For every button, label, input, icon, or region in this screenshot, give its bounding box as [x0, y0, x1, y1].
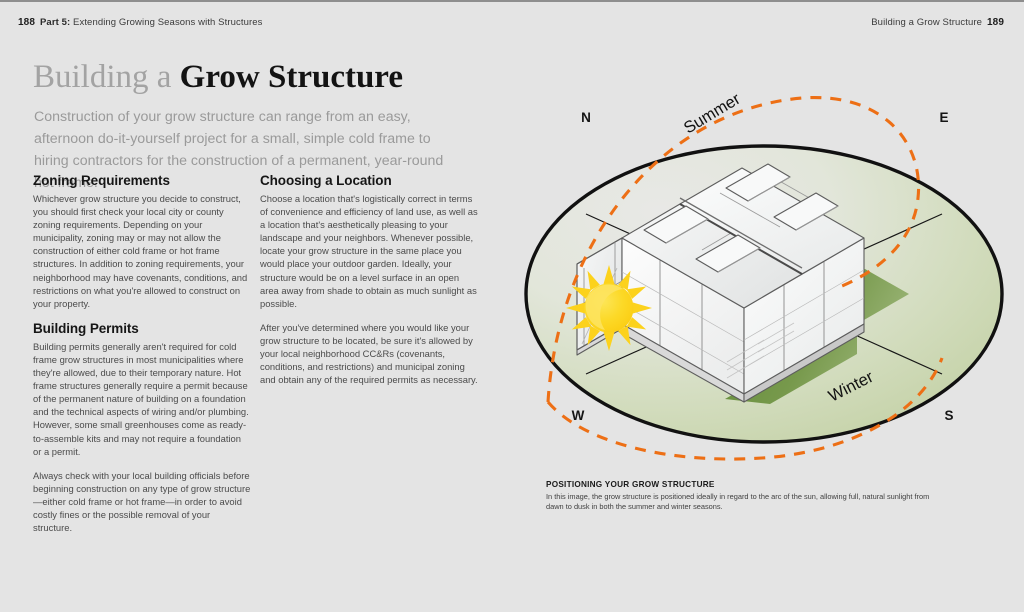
- paragraph-zoning-1: Whichever grow structure you decide to c…: [33, 192, 251, 310]
- running-head-left: 188Part 5: Extending Growing Seasons wit…: [18, 17, 262, 28]
- sun-path-illustration: N E S W Summer Winter: [512, 72, 1017, 472]
- book-spread: 188Part 5: Extending Growing Seasons wit…: [0, 0, 1024, 612]
- text-column-right: Choosing a Location Choose a location th…: [260, 173, 478, 397]
- compass-label-s: S: [944, 408, 953, 423]
- running-head-right: Building a Grow Structure189: [871, 17, 1004, 28]
- folio-left: 188: [18, 17, 35, 28]
- paragraph-location-2: After you've determined where you would …: [260, 321, 478, 386]
- page-title: Building a Grow Structure: [33, 58, 403, 96]
- figure-caption: POSITIONING YOUR GROW STRUCTURE In this …: [546, 480, 946, 513]
- section-heading-location: Choosing a Location: [260, 173, 478, 188]
- caption-title: POSITIONING YOUR GROW STRUCTURE: [546, 480, 946, 489]
- compass-label-w: W: [572, 408, 585, 423]
- running-head-part-label: Part 5:: [40, 17, 70, 28]
- page-title-bold: Grow Structure: [180, 59, 403, 95]
- compass-label-e: E: [939, 110, 948, 125]
- section-heading-permits: Building Permits: [33, 321, 251, 336]
- compass-label-n: N: [581, 110, 591, 125]
- section-heading-zoning: Zoning Requirements: [33, 173, 251, 188]
- running-head-left-text: Extending Growing Seasons with Structure…: [73, 17, 262, 28]
- paragraph-location-1: Choose a location that's logistically co…: [260, 192, 478, 310]
- folio-right: 189: [987, 17, 1004, 28]
- caption-body: In this image, the grow structure is pos…: [546, 492, 946, 513]
- page-top-rule: [0, 0, 1024, 2]
- paragraph-permits-2: Always check with your local building of…: [33, 469, 251, 534]
- running-head-right-text: Building a Grow Structure: [871, 17, 982, 28]
- page-title-light: Building a: [33, 59, 180, 95]
- paragraph-permits-1: Building permits generally aren't requir…: [33, 340, 251, 458]
- text-column-left: Zoning Requirements Whichever grow struc…: [33, 173, 251, 545]
